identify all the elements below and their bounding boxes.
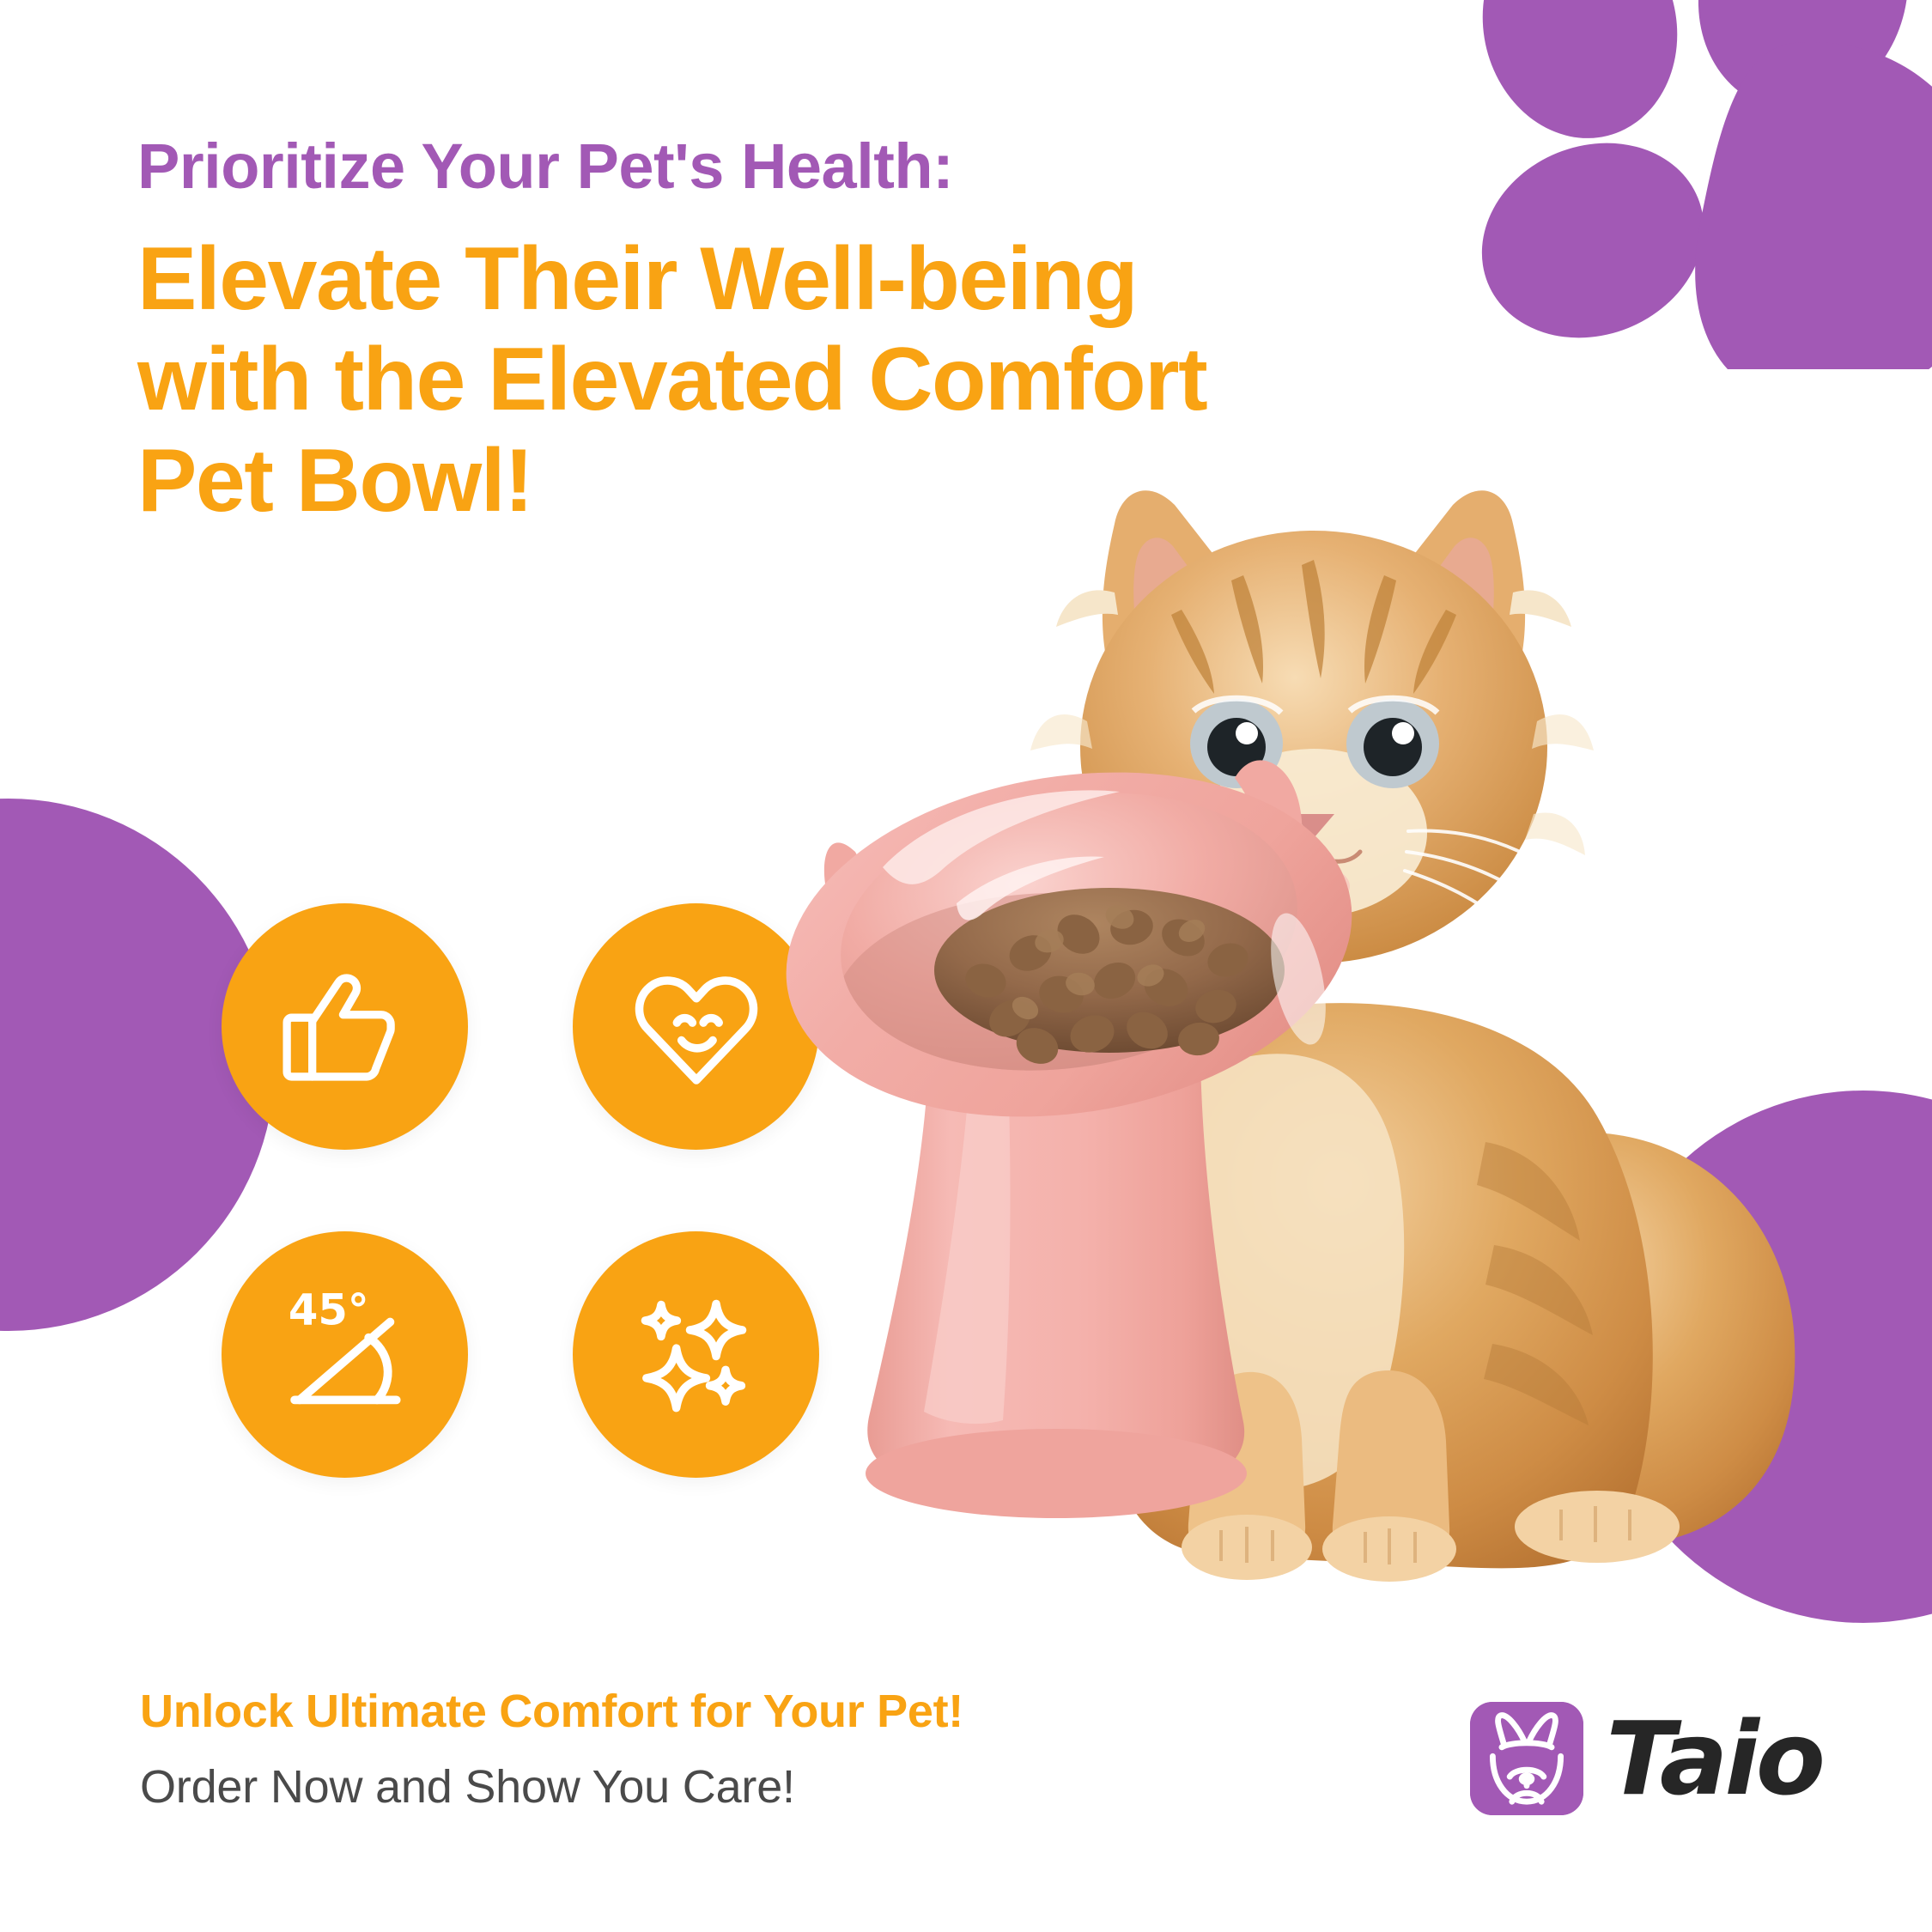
eyebrow-text: Prioritize Your Pet's Health: — [137, 133, 1340, 200]
kitten-eye-right — [1346, 698, 1439, 788]
paw-print-decoration — [1434, 0, 1932, 369]
paw-pad-icon — [1695, 42, 1932, 369]
brand-wordmark: Taio — [1606, 1708, 1822, 1809]
angle-label: 45° — [289, 1285, 369, 1335]
promo-poster: Prioritize Your Pet's Health: Elevate Th… — [0, 0, 1932, 1932]
brand-logo[interactable]: Taio — [1470, 1702, 1822, 1815]
smiling-heart-icon — [623, 954, 769, 1100]
paw-toe-icon — [1459, 0, 1700, 159]
dog-face-icon — [1470, 1702, 1583, 1815]
footer-copy: Unlock Ultimate Comfort for Your Pet! Or… — [140, 1685, 1256, 1814]
sparkles-icon — [623, 1282, 769, 1428]
feature-badge-tilt-angle[interactable]: 45° — [222, 1231, 468, 1478]
cta-headline: Unlock Ultimate Comfort for Your Pet! — [140, 1685, 1256, 1738]
product-photo — [773, 464, 1932, 1726]
paw-toe-icon — [1668, 0, 1932, 137]
cta-subline: Order Now and Show You Care! — [140, 1760, 1256, 1814]
paw-toe-icon — [1452, 111, 1733, 369]
feature-icon-grid: 45° — [222, 903, 819, 1478]
thumbs-up-icon — [274, 956, 416, 1097]
feature-badge-quality-approved[interactable] — [222, 903, 468, 1150]
bowl-foot — [866, 1429, 1247, 1518]
45-degree-angle-icon: 45° — [270, 1279, 420, 1430]
